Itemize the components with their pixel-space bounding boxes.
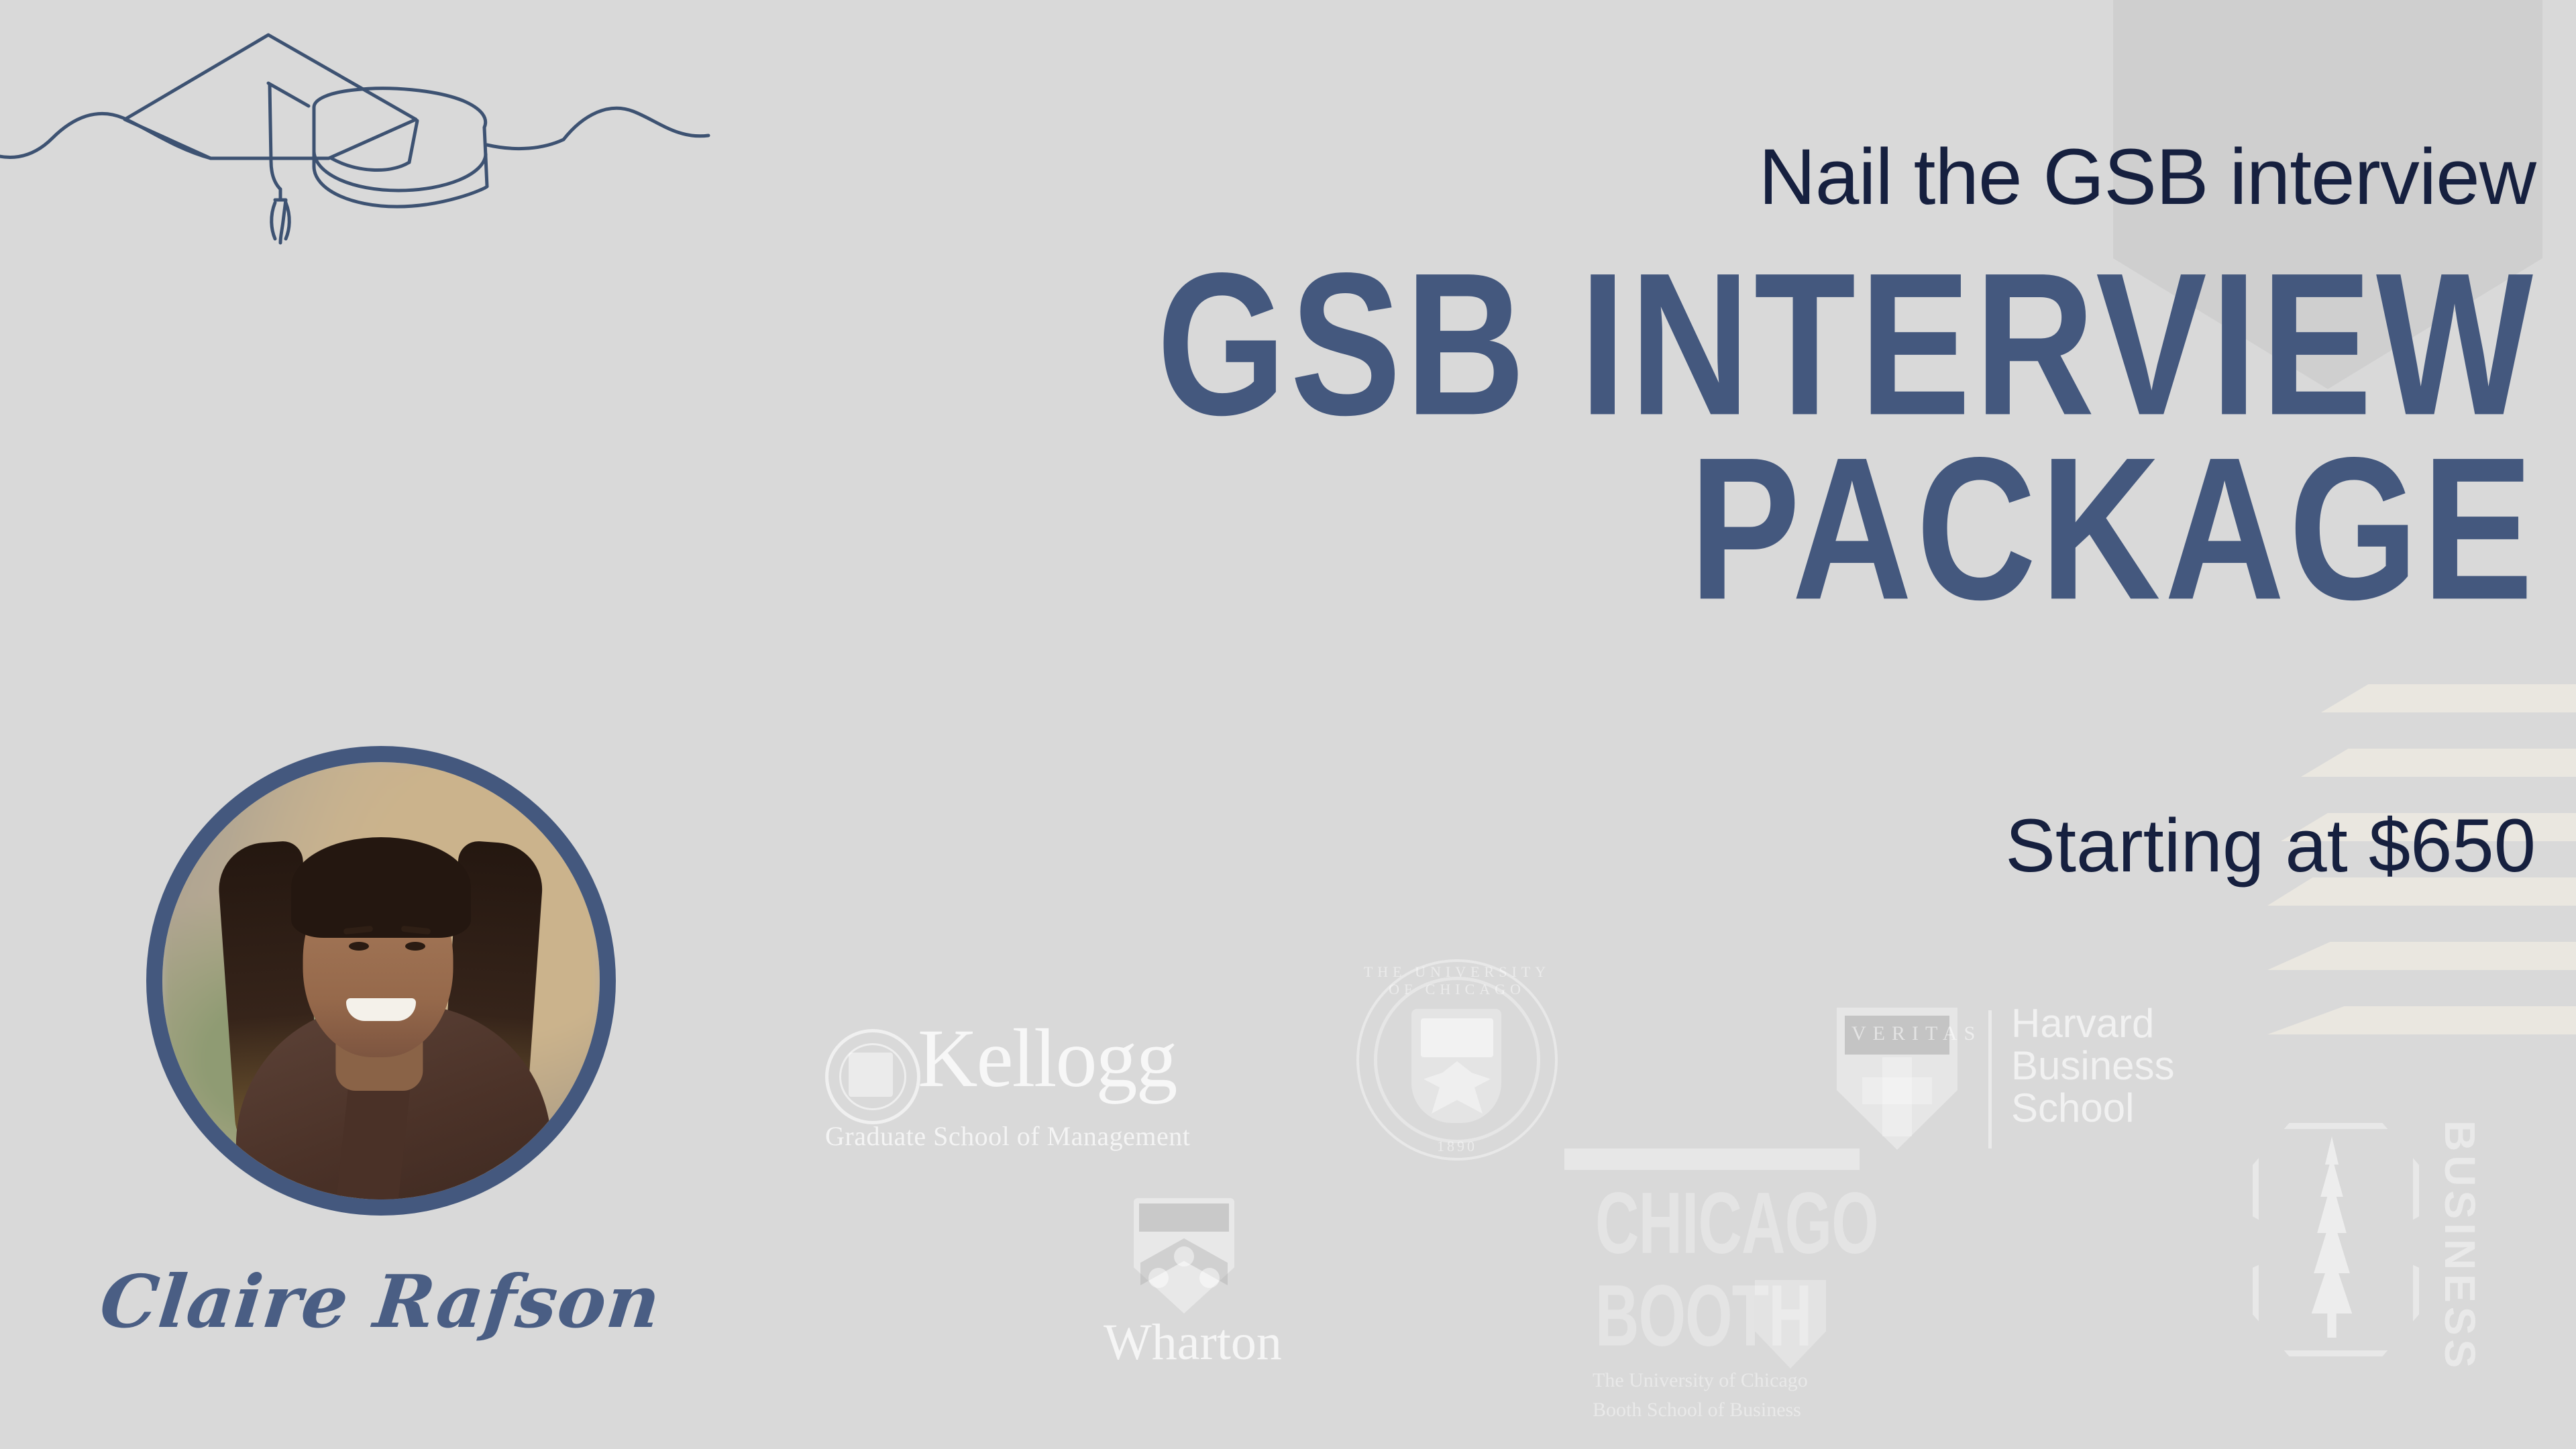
logo-chicago-booth: CHICAGO BOOTH The University of Chicago …: [1556, 1140, 1872, 1422]
logo-uchicago-seal: THE UNIVERSITY OF CHICAGO 1890: [1356, 959, 1558, 1161]
avatar: [146, 746, 616, 1216]
kellogg-subtitle: Graduate School of Management: [825, 1120, 1190, 1152]
harvard-line-3: School: [2011, 1087, 2174, 1129]
seal-book-icon: [1421, 1018, 1493, 1057]
harvard-veritas-text: VERITAS: [1851, 1022, 1982, 1045]
page-title: GSB INTERVIEW PACKAGE: [525, 288, 2537, 616]
title-line-1: GSB INTERVIEW: [525, 257, 2537, 431]
northwestern-seal-icon: [825, 1029, 920, 1124]
portrait-eye-right: [405, 942, 425, 951]
booth-subtitle: The University of Chicago Booth School o…: [1593, 1366, 1808, 1424]
booth-subtitle-line-1: The University of Chicago: [1593, 1366, 1808, 1395]
harvard-wordmark: Harvard Business School: [2011, 1002, 2174, 1129]
logo-kellogg: Kellogg Graduate School of Management: [825, 1014, 1201, 1155]
booth-line-1: CHICAGO: [1595, 1186, 1878, 1261]
booth-subtitle-line-2: Booth School of Business: [1593, 1395, 1808, 1425]
harvard-line-1: Harvard: [2011, 1002, 2174, 1044]
kellogg-wordmark: Kellogg: [918, 1017, 1177, 1100]
booth-top-rule: [1564, 1148, 1860, 1170]
price-label: Starting at $650: [2005, 808, 2536, 883]
logo-harvard-business-school: VERITAS Harvard Business School: [1813, 993, 2242, 1161]
harvard-line-2: Business: [2011, 1044, 2174, 1087]
hero-kicker: Nail the GSB interview: [1759, 138, 2536, 217]
poster-canvas: Nail the GSB interview GSB INTERVIEW PAC…: [0, 0, 2576, 1449]
wharton-dot-3: [1199, 1268, 1220, 1288]
title-line-2: PACKAGE: [525, 441, 2537, 616]
wharton-wordmark: Wharton: [1059, 1313, 1327, 1372]
portrait-hair-top: [291, 837, 471, 938]
wharton-shield-chief: [1139, 1203, 1229, 1232]
presenter-name: Claire Rafson: [96, 1260, 664, 1344]
portrait-smile: [346, 998, 416, 1021]
logo-stanford-business: BUSINESS: [2234, 1114, 2576, 1395]
wharton-dot-1: [1174, 1246, 1194, 1267]
seal-year-text: 1890: [1356, 1138, 1558, 1155]
harvard-divider: [1988, 1010, 1992, 1148]
seal-top-text: THE UNIVERSITY OF CHICAGO: [1356, 963, 1558, 998]
stanford-wordmark: BUSINESS: [2435, 1120, 2485, 1372]
graduation-cap-line-art: [0, 20, 825, 248]
harvard-cross-horizontal-icon: [1862, 1077, 1932, 1104]
portrait-eye-left: [349, 942, 369, 951]
logo-wharton: Wharton: [1059, 1189, 1327, 1390]
wharton-dot-2: [1148, 1268, 1169, 1288]
